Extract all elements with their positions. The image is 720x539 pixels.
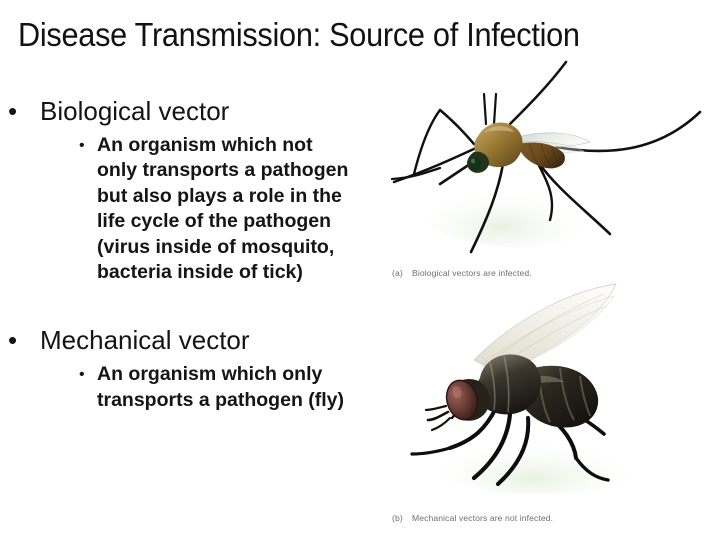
figure-a-caption-label: (a): [392, 268, 412, 279]
sub-bullet-item-biological-vector: • An organism which not only transports …: [0, 133, 372, 285]
figure-b-housefly: (b)Mechanical vectors are not infected.: [378, 282, 720, 532]
figure-a-caption: (a)Biological vectors are infected.: [392, 268, 532, 279]
figure-a-mosquito: (a)Biological vectors are infected.: [378, 52, 720, 280]
bullet-item-biological-vector: • Biological vector: [0, 96, 372, 126]
section-spacer: [0, 285, 372, 325]
bullet-marker-icon: •: [8, 325, 17, 355]
sub-bullet-text-biological-vector: An organism which not only transports a …: [97, 133, 349, 285]
bullet-heading-biological-vector: Biological vector: [40, 96, 229, 126]
bullet-item-mechanical-vector: • Mechanical vector: [0, 325, 372, 355]
housefly-illustration-icon: [378, 282, 720, 497]
sub-bullet-marker-icon: •: [79, 133, 85, 158]
sub-bullet-marker-icon: •: [79, 362, 85, 387]
figure-b-caption: (b)Mechanical vectors are not infected.: [392, 513, 553, 524]
figure-b-caption-label: (b): [392, 513, 412, 524]
sub-bullet-item-mechanical-vector: • An organism which only transports a pa…: [0, 362, 372, 413]
bullet-heading-mechanical-vector: Mechanical vector: [40, 325, 250, 355]
slide-canvas: Disease Transmission: Source of Infectio…: [0, 0, 720, 539]
mosquito-illustration-icon: [378, 52, 720, 257]
figure-a-caption-text: Biological vectors are infected.: [412, 268, 532, 278]
content-body: • Biological vector • An organism which …: [0, 96, 372, 413]
sub-bullet-text-mechanical-vector: An organism which only transports a path…: [97, 362, 349, 413]
figure-b-caption-text: Mechanical vectors are not infected.: [412, 513, 553, 523]
bullet-marker-icon: •: [8, 96, 17, 126]
figure-column: (a)Biological vectors are infected.: [378, 0, 720, 539]
